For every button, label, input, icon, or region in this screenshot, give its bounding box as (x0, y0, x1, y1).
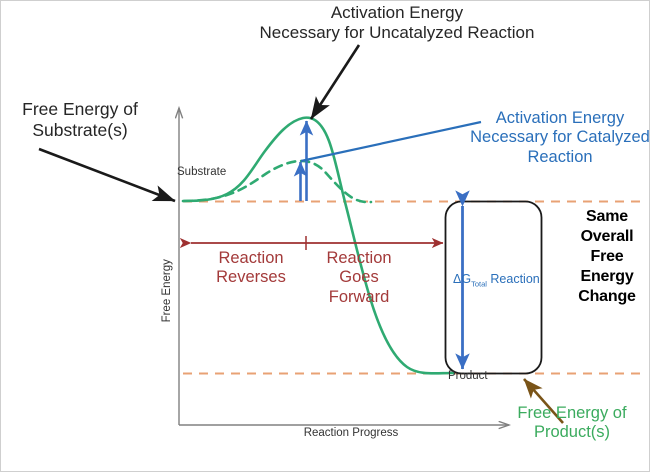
reaction-curves (183, 118, 453, 374)
delta-g-subscript: Total (471, 280, 487, 289)
reaction-reverses-label: Reaction Reverses (199, 249, 303, 288)
delta-g-total-label: ΔGTotal Reaction (453, 272, 549, 289)
energy-diagram-figure: Free Energy of Substrate(s) Activation E… (0, 0, 650, 472)
product-energy-annotation: Free Energy of Product(s) (493, 404, 650, 443)
uncatalyzed-activation-annotation: Activation Energy Necessary for Uncataly… (197, 3, 597, 43)
x-axis-label: Reaction Progress (241, 427, 461, 441)
substrate-curve-label: Substrate (177, 166, 226, 180)
substrate-energy-annotation: Free Energy of Substrate(s) (1, 99, 159, 140)
delta-g-prefix: ΔG (453, 272, 471, 286)
reaction-direction-indicator (191, 236, 443, 250)
substrate-energy-leader-arrow (39, 149, 175, 201)
uncatalyzed-activation-leader-arrow (311, 45, 359, 119)
reaction-goes-forward-label: Reaction Goes Forward (307, 249, 411, 307)
y-axis-label: Free Energy (161, 231, 175, 351)
delta-g-suffix: Reaction (487, 272, 540, 286)
diagram-canvas (1, 1, 650, 472)
catalyzed-activation-annotation: Activation Energy Necessary for Catalyze… (469, 109, 650, 167)
product-curve-label: Product (448, 370, 488, 384)
same-overall-free-energy-change-annotation: Same Overall Free Energy Change (563, 207, 650, 307)
uncatalyzed-reaction-curve (183, 118, 453, 374)
